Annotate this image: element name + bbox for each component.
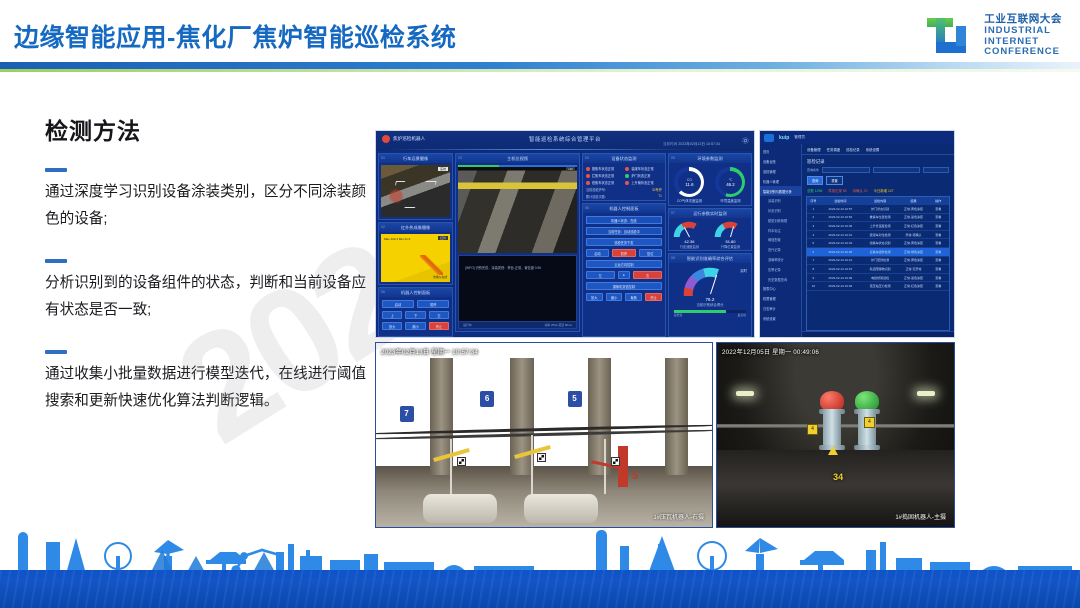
panel-title: 行车远景摄像 (403, 156, 428, 161)
cell-no: 8 (807, 267, 820, 271)
cell-no: 4 (807, 233, 820, 237)
stat-today: 今日新增 127 (873, 188, 893, 193)
concrete-drum (423, 494, 497, 523)
cell-result: 异常-待确认 (899, 233, 927, 237)
control-group-label: 云台方向控制 (586, 260, 662, 268)
console-action-bar: 查询 重置 (802, 176, 954, 188)
ring-inner: ℃ 46.2 (719, 171, 742, 194)
video-feed-main[interactable]: HD (458, 165, 577, 253)
camera-label: 1#压瓦机器人-右摄 (653, 512, 704, 521)
status-dot-icon (586, 181, 590, 185)
filter-label: 查询条件 (807, 168, 819, 172)
filter-input-3[interactable] (923, 167, 949, 173)
panel-number: 06 (381, 288, 385, 297)
panel-title: 运行参数实时监测 (693, 211, 727, 216)
panel-header: 05 环境参数监测 (669, 154, 751, 163)
reset-button[interactable]: 复位 (639, 249, 662, 257)
ring-value: 11.6 (685, 182, 693, 187)
photo-coke-oven-left: 7 6 5 5 2023年02月13日 星期一 10:57:34 1#压瓦机器人… (375, 342, 713, 528)
action-button[interactable]: 放大 (382, 322, 402, 330)
sidebar-item-history-query[interactable]: 历史数据查询 (760, 274, 801, 284)
table-row[interactable]: 102023-02-13 10:02液压站压力检测正常-红色涂装查看 (807, 282, 949, 291)
gear-icon[interactable] (742, 137, 749, 144)
panel-cam-left-top: 01 行车远景摄像 实时 (378, 153, 453, 220)
sidebar-item-model-training[interactable]: 模型训练管理 (760, 215, 801, 225)
dashboard-clock: 当前时间 2023年02月13日 10:57:34 (663, 142, 720, 147)
cell-result: 正常-红色涂装 (899, 284, 927, 288)
cell-op[interactable]: 查看 (928, 258, 949, 262)
cell-op[interactable]: 查看 (928, 215, 949, 219)
panel-runtime-gauges: 07 运行参数实时监测 42.36 行走速度监测 51.80 (668, 208, 752, 251)
panel-title: 环境参数监测 (697, 156, 722, 161)
oven-pillar (665, 358, 689, 476)
filter-input-1[interactable] (822, 167, 870, 173)
stat-pending: 待确认 23 (853, 188, 868, 193)
button-row: 启动 暂停 复位 (586, 249, 662, 257)
status-dot-icon (625, 167, 629, 171)
table-row[interactable]: 42023-02-13 10:41装煤车对位检测异常-待确认查看 (807, 231, 949, 240)
valve-body (823, 409, 841, 447)
cell-result: 正常-黄色涂装 (899, 241, 927, 245)
robot-arm-post (450, 439, 452, 494)
sidebar-item-inspection[interactable]: 巡检管理 (760, 167, 801, 177)
gauge-arc (673, 221, 705, 238)
panel-body: HD [INFO] 识别完成，涂装类别：黄色-正常，置信度 0.96 运行中 帧… (456, 163, 579, 331)
cell-no: 6 (807, 250, 820, 254)
video-tag: 红外 (438, 236, 448, 240)
oven-number-badge: 7 (400, 406, 414, 422)
status-label: 炉门状态正常 (631, 173, 650, 178)
kv-value: 71 (658, 194, 662, 199)
video-feed-overview[interactable]: 实时 (381, 165, 450, 217)
action-button[interactable]: 启动 (382, 300, 414, 308)
panel-header: 02 红外热成像摄像 (379, 223, 452, 232)
ring-caption: CO气体浓度监测 (674, 198, 704, 203)
valve-head-red-icon (820, 391, 844, 411)
log-console[interactable]: [INFO] 识别完成，涂装类别：黄色-正常，置信度 0.96 运行中 帧率 2… (458, 255, 577, 329)
sidebar-item-coating-recognition[interactable]: 涂装识别 (760, 196, 801, 206)
stop-button[interactable]: 停止 (429, 322, 449, 330)
cell-op[interactable]: 查看 (928, 207, 949, 211)
sidebar-item-home[interactable]: 首页 (760, 147, 801, 157)
cell-time: 2023-02-13 10:57 (820, 207, 861, 211)
cell-time: 2023-02-13 10:28 (820, 250, 861, 254)
bullet-item: 通过收集小批量数据进行模型迭代，在线进行阈值搜索和更新快速优化算法判断逻辑。 (45, 350, 375, 415)
status-item: 炉门状态正常 (625, 173, 662, 178)
cell-no: 1 (807, 207, 820, 211)
page-title: 边缘智能应用-焦化厂焦炉智能巡检系统 (14, 18, 456, 54)
sidebar-item-permissions[interactable]: 权限管理 (760, 294, 801, 304)
robot-control-body: 机器人状态：在线 当前任务：自动巡检中 巡检任务下发 启动 暂停 复位 云台方向… (583, 213, 665, 304)
ring-value: 46.2 (726, 182, 735, 187)
sidebar-item-state-recognition[interactable]: 状态识别 (760, 206, 801, 216)
control-group-label: 摄像机变倍控制 (586, 282, 662, 290)
cell-result: 正常-蓝色涂装 (899, 276, 927, 280)
cell-result: 正常-红色涂装 (899, 224, 927, 228)
clock-label: 当前时间 (663, 142, 677, 146)
conference-logo: 工业互联网大会 INDUSTRIAL INTERNET CONFERENCE (923, 12, 1062, 60)
app-user-label[interactable]: 管理员 (794, 135, 805, 140)
status-label: 上升管状态正常 (631, 180, 653, 185)
pause-button[interactable]: 暂停 (612, 249, 635, 257)
status-dot-icon (586, 167, 590, 171)
bullet-text: 分析识别到的设备组件的状态，判断和当前设备应有状态是否一致; (45, 270, 375, 324)
header-rule-green (0, 69, 1080, 72)
console-metrics: 帧率 25fps 延迟 86ms (545, 323, 572, 327)
zoom-in-button[interactable]: 放大 (586, 293, 603, 301)
panel-title: 机器人控制面板 (401, 290, 430, 295)
panel-body: 红外 Max 132.4 Min 21.6 热像仪在线 (379, 232, 452, 284)
reset-button[interactable]: 重置 (826, 176, 842, 185)
button-row: 左 ● 右 (586, 271, 662, 279)
panel-number: 04 (585, 154, 589, 163)
status-item: 拦焦车状态正常 (586, 173, 623, 178)
kv-key: 当前巡检炉号： (586, 187, 608, 192)
sidebar-item-accuracy-stats[interactable]: 准确率统计 (760, 255, 801, 265)
table-row[interactable]: 62023-02-13 10:28拦焦车组件检测正常-绿色涂装查看 (807, 248, 949, 257)
focus-button[interactable]: 聚焦 (625, 293, 642, 301)
sidebar-item-ai-analysis[interactable]: 智能识别与数据分析 (760, 186, 801, 196)
panel-title: 红外热成像摄像 (401, 225, 430, 230)
panel-number: 06 (585, 204, 589, 213)
calibration-marker (537, 453, 546, 462)
stop-button[interactable]: 停止 (645, 293, 662, 301)
app-logo-text: kuip (779, 135, 789, 141)
cell-op[interactable]: 查看 (928, 276, 949, 280)
button-row: 上 下 左 (382, 311, 449, 319)
panel-cam-main: 03 主机位视频 HD [INFO] 识别完成，涂装类别：黄色-正常，置信度 0… (455, 153, 580, 332)
table-row[interactable]: 92023-02-13 10:09电缆桥架巡检正常-蓝色涂装查看 (807, 274, 949, 283)
cell-no: 2 (807, 215, 820, 219)
gauge-caption: 行走速度监测 (673, 244, 705, 249)
thermal-range-label: Max 132.4 Min 21.6 (384, 237, 410, 241)
column-header-content: 巡检内容 (861, 199, 899, 203)
tab-inspection-records[interactable]: 巡检记录 (846, 147, 860, 152)
panel-header: 04 设备状态监测 (583, 154, 665, 163)
cell-op[interactable]: 查看 (928, 284, 949, 288)
logo-i-mark (923, 12, 975, 60)
photo-timestamp: 2022年12月05日 星期一 00:49:06 (722, 347, 819, 356)
cell-time: 2023-02-13 10:15 (820, 267, 861, 271)
cell-time: 2023-02-13 10:02 (820, 284, 861, 288)
cell-content: 拦焦车组件检测 (861, 250, 899, 254)
bullet-item: 通过深度学习识别设备涂装类别，区分不同涂装颜色的设备; (45, 168, 375, 233)
unit-number: 34 (833, 472, 843, 482)
cell-op[interactable]: 查看 (928, 224, 949, 228)
dashboard-header: 焦炉巡检机器人 智能巡检系统综合管理平台 当前时间 2023年02月13日 10… (376, 131, 754, 151)
valve-head-green-icon (855, 391, 879, 411)
gauge-row: 42.36 行走速度监测 51.80 升降位置监测 (669, 218, 751, 250)
gauge-needle (731, 226, 735, 237)
console-sidebar: 首页 设备台账 巡检管理 机器人管理 智能识别与数据分析 涂装识别 状态识别 模… (760, 144, 802, 338)
column-header-op: 操作 (928, 199, 949, 203)
console-body: 首页 设备台账 巡检管理 机器人管理 智能识别与数据分析 涂装识别 状态识别 模… (760, 144, 954, 338)
ring-group-temp: ℃ 46.2 环境温度监测 (715, 167, 745, 203)
panel-header: 03 主机位视频 (456, 154, 579, 163)
cell-content: 液压站压力检测 (861, 284, 899, 288)
cell-time: 2023-02-13 10:34 (820, 241, 861, 245)
zoom-out-button[interactable]: 缩小 (606, 293, 623, 301)
console-topbar: kuip 管理员 (760, 131, 954, 144)
calibration-marker (611, 457, 620, 466)
section-heading: 检测方法 (45, 112, 141, 146)
video-feed-thermal[interactable]: 红外 Max 132.4 Min 21.6 热像仪在线 (381, 234, 450, 282)
console-status: 运行中 (463, 323, 471, 327)
scada-dashboard: 焦炉巡检机器人 智能巡检系统综合管理平台 当前时间 2023年02月13日 10… (375, 130, 755, 338)
cell-no: 7 (807, 258, 820, 262)
footer-decoration (0, 530, 1080, 608)
start-button[interactable]: 启动 (586, 249, 609, 257)
tab-device-management[interactable]: 设备管理 (807, 147, 821, 152)
button-row: 启动 暂停 (382, 300, 449, 308)
tab-task-scheduling[interactable]: 任务调度 (827, 147, 841, 152)
oven-number-red: 5 (628, 468, 642, 484)
header-rule-blue (0, 62, 1080, 69)
thermal-status-label: 热像仪在线 (433, 275, 447, 279)
cell-result: 正常-蓝色涂装 (899, 215, 927, 219)
console-tabs: 设备管理 任务调度 巡检记录 系统设置 (802, 144, 954, 155)
cell-content: 轨道障碍物识别 (861, 267, 899, 271)
accuracy-live-badge: 实时 (740, 268, 747, 273)
progress-green-segment (458, 165, 498, 167)
ring-group-co: CO 11.6 CO气体浓度监测 (674, 167, 704, 203)
panel-number: 08 (671, 254, 675, 263)
robot-task-banner: 当前任务：自动巡检中 (586, 227, 662, 235)
status-item: 推焦车状态正常 (586, 166, 623, 171)
kv-key: 累计巡检次数： (586, 194, 608, 199)
panel-header: 01 行车远景摄像 (379, 154, 452, 163)
column-header-no: 序号 (807, 199, 820, 203)
sidebar-item-audit-log[interactable]: 日志审计 (760, 304, 801, 314)
sidebar-item-alarm-records[interactable]: 告警记录 (760, 264, 801, 274)
work-lamp (736, 391, 754, 396)
status-label: 拦焦车状态正常 (592, 173, 614, 178)
sidebar-item-iteration-log[interactable]: 迭代记录 (760, 245, 801, 255)
accuracy-bar-fill (674, 310, 726, 313)
ring-inner: CO 11.6 (678, 171, 701, 194)
robot-arm-post (531, 435, 533, 494)
pan-center-icon[interactable]: ● (618, 271, 631, 279)
action-button[interactable]: 缩小 (405, 322, 425, 330)
warning-triangle-icon (828, 446, 838, 455)
button-row: 放大 缩小 停止 (382, 322, 449, 330)
stat-total: 总数 1296 (807, 188, 822, 193)
concrete-drum (524, 494, 598, 523)
table-row[interactable]: 22023-02-13 10:52推焦车位置检测正常-蓝色涂装查看 (807, 214, 949, 223)
cell-content: 炉门密封检测 (861, 258, 899, 262)
bullet-dash-icon (45, 259, 67, 263)
button-row: 放大 缩小 聚焦 停止 (586, 293, 662, 301)
cell-time: 2023-02-13 10:46 (820, 224, 861, 228)
bar-min-label: 最低值 (674, 313, 682, 317)
panel-number: 03 (458, 154, 462, 163)
accuracy-caption: 当前识别综合得分 (671, 302, 749, 307)
accuracy-bar-labels: 最低值 最高值 (671, 313, 749, 317)
video-tag: 实时 (438, 167, 448, 171)
status-dot-icon (586, 174, 590, 178)
valve-tag-left: 4 (807, 424, 818, 435)
accuracy-gauge: 实时 76.2 当前识别综合得分 最低值 最高值 (669, 263, 751, 318)
cell-result: 正常-无异常 (899, 267, 927, 271)
skyline-silhouette-icon (0, 526, 1080, 574)
oven-number-badge: 6 (480, 391, 494, 407)
panel-environment: 05 环境参数监测 CO 11.6 (668, 153, 752, 206)
panel-device-status: 04 设备状态监测 推焦车状态正常 装煤车状态正常 拦焦车状态正常 炉门状态正常… (582, 153, 666, 201)
tab-system-settings[interactable]: 系统设置 (866, 147, 880, 152)
table-row[interactable]: 12023-02-13 10:57炉门状态识别正常-黄色涂装查看 (807, 205, 949, 214)
panel-title: 设备状态监测 (611, 156, 636, 161)
column-header-time: 巡检时间 (820, 199, 861, 203)
panel-number: 05 (671, 154, 675, 163)
console-main: 设备管理 任务调度 巡检记录 系统设置 巡检记录 查询条件 查询 重置 (802, 144, 954, 338)
cell-no: 3 (807, 224, 820, 228)
app-logo-icon (764, 134, 774, 142)
gauge-speed: 42.36 行走速度监测 (673, 221, 705, 249)
status-dot-icon (625, 181, 629, 185)
calibration-marker (457, 457, 466, 466)
status-label: 推焦车状态正常 (592, 166, 614, 171)
console-footer: 运行中 帧率 25fps 延迟 86ms (459, 321, 576, 328)
ring-gauge-temperature: ℃ 46.2 (715, 167, 745, 197)
log-line: [INFO] 识别完成，涂装类别：黄色-正常，置信度 0.96 (465, 265, 541, 270)
bar-max-label: 最高值 (738, 313, 746, 317)
console-stats: 总数 1296 异常记录 58 待确认 23 今日新增 127 (802, 188, 954, 196)
photo-timestamp: 2023年02月13日 星期一 10:57:34 (381, 347, 478, 356)
records-table: 序号 巡检时间 巡检内容 结果 操作 12023-02-13 10:57炉门状态… (806, 196, 950, 331)
panel-header: 06 机器人控制面板 (379, 288, 452, 297)
cell-time: 2023-02-13 10:52 (820, 215, 861, 219)
clock-value: 2023年02月13日 10:57:34 (678, 142, 720, 146)
bullet-dash-icon (45, 350, 67, 354)
ring-caption: 环境温度监测 (715, 198, 745, 203)
panel-header: 07 运行参数实时监测 (669, 209, 751, 218)
gauge-lift: 51.80 升降位置监测 (714, 221, 746, 249)
sidebar-item-sample-labeling[interactable]: 样本标注 (760, 225, 801, 235)
gauge-needle (684, 227, 690, 237)
filter-input-2[interactable] (873, 167, 921, 173)
bullet-text: 通过深度学习识别设备涂装类别，区分不同涂装颜色的设备; (45, 179, 375, 233)
panel-number: 02 (381, 223, 385, 232)
action-button[interactable]: 左 (429, 311, 449, 319)
panel-title: 智能识别准确率综合评估 (687, 256, 733, 261)
valve-body (858, 409, 876, 447)
panel-header: 08 智能识别准确率综合评估 (669, 254, 751, 263)
cell-no: 9 (807, 276, 820, 280)
table-row[interactable]: 52023-02-13 10:34熄焦车状态识别正常-黄色涂装查看 (807, 239, 949, 248)
action-button[interactable]: 暂停 (417, 300, 449, 308)
cell-content: 电缆桥架巡检 (861, 276, 899, 280)
table-row[interactable]: 32023-02-13 10:46上升管温度检测正常-红色涂装查看 (807, 222, 949, 231)
sidebar-item-threshold-config[interactable]: 阈值配置 (760, 235, 801, 245)
panel-title: 机器人控制面板 (609, 206, 638, 211)
environment-rings: CO 11.6 CO气体浓度监测 ℃ 46. (669, 163, 751, 205)
gauge-arc (714, 221, 746, 238)
stat-abnormal: 异常记录 58 (828, 188, 846, 193)
sidebar-item-robot[interactable]: 机器人管理 (760, 176, 801, 186)
panel-header: 06 机器人控制面板 (583, 204, 665, 213)
cell-op[interactable]: 查看 (928, 241, 949, 245)
oven-number-badge: 5 (568, 391, 582, 407)
cell-no: 10 (807, 284, 820, 288)
dashboard-title-rule (386, 147, 694, 151)
pan-right-button[interactable]: 右 (633, 271, 662, 279)
dashboard-column-main: 03 主机位视频 HD [INFO] 识别完成，涂装类别：黄色-正常，置信度 0… (455, 153, 580, 337)
bullet-text: 通过收集小批量数据进行模型迭代，在线进行阈值搜索和更新快速优化算法判断逻辑。 (45, 361, 375, 415)
photo-coke-oven-right: 4 4 34 2022年12月05日 星期一 00:49:06 1#捣固机器人-… (716, 342, 955, 528)
console-page-title: 巡检记录 (802, 155, 954, 167)
status-kv-row: 当前巡检炉号： 32号炉 (583, 186, 665, 193)
oven-pillar (588, 358, 612, 476)
cell-content: 上升管温度检测 (861, 224, 899, 228)
quick-action-grid: 启动 暂停 上 下 左 放大 缩小 停止 (379, 297, 452, 333)
valve-flange (854, 445, 880, 450)
panel-quick-actions: 06 机器人控制面板 启动 暂停 上 下 左 (378, 287, 453, 337)
panel-cam-thermal: 02 红外热成像摄像 红外 Max 132.4 Min 21.6 热像仪在线 (378, 222, 453, 285)
table-row[interactable]: 72023-02-13 10:21炉门密封检测正常-黄色涂装查看 (807, 257, 949, 266)
cell-op[interactable]: 查看 (928, 267, 949, 271)
status-item: 上升管状态正常 (625, 180, 662, 185)
logo-line-industrial: INDUSTRIAL (984, 26, 1062, 37)
table-header-row: 序号 巡检时间 巡检内容 结果 操作 (807, 197, 949, 205)
camera-label: 1#捣固机器人-主摄 (895, 512, 946, 521)
cell-op[interactable]: 查看 (928, 250, 949, 254)
bullet-item: 分析识别到的设备组件的状态，判断和当前设备应有状态是否一致; (45, 259, 375, 324)
dashboard-column-gauges: 05 环境参数监测 CO 11.6 (668, 153, 752, 337)
progress-blue-segment (499, 165, 577, 167)
cell-op[interactable]: 查看 (928, 233, 949, 237)
kv-value: 32号炉 (652, 187, 662, 192)
panel-accuracy: 08 智能识别准确率综合评估 实时 76.2 当前识别综合得分 最低值 最高值 (668, 253, 752, 337)
sidebar-item-reports[interactable]: 报表中心 (760, 284, 801, 294)
gauge-caption: 升降位置监测 (714, 244, 746, 249)
panel-robot-control: 06 机器人控制面板 机器人状态：在线 当前任务：自动巡检中 巡检任务下发 启动… (582, 203, 666, 337)
video-tag: HD (566, 167, 574, 171)
status-kv-row: 累计巡检次数： 71 (583, 193, 665, 200)
cell-time: 2023-02-13 10:21 (820, 258, 861, 262)
cell-content: 装煤车对位检测 (861, 233, 899, 237)
table-row[interactable]: 82023-02-13 10:15轨道障碍物识别正常-无异常查看 (807, 265, 949, 274)
panel-number: 07 (671, 209, 675, 218)
gauge-needle (710, 275, 717, 294)
bullet-list: 通过深度学习识别设备涂装类别，区分不同涂装颜色的设备; 分析识别到的设备组件的状… (45, 168, 375, 441)
cell-result: 正常-绿色涂装 (899, 250, 927, 254)
dashboard-column-left: 01 行车远景摄像 实时 02 红外热成像摄像 (378, 153, 453, 337)
cell-result: 正常-黄色涂装 (899, 258, 927, 262)
cell-time: 2023-02-13 10:09 (820, 276, 861, 280)
column-header-result: 结果 (899, 199, 927, 203)
console-footer: 共 1296 条记录，每页 10 条 (802, 331, 954, 338)
action-button[interactable]: 上 (382, 311, 402, 319)
panel-title: 主机位视频 (507, 156, 528, 161)
status-item: 装煤车状态正常 (625, 166, 662, 171)
cell-no: 5 (807, 241, 820, 245)
status-label: 装煤车状态正常 (631, 166, 653, 171)
status-legend: 推焦车状态正常 装煤车状态正常 拦焦车状态正常 炉门状态正常 熄焦车状态正常 上… (583, 163, 665, 186)
gauge-dial (682, 266, 738, 296)
action-button[interactable]: 下 (405, 311, 425, 319)
pan-left-button[interactable]: 左 (586, 271, 615, 279)
dashboard-body: 01 行车远景摄像 实时 02 红外热成像摄像 (376, 151, 754, 338)
sidebar-item-device-ledger[interactable]: 设备台账 (760, 157, 801, 167)
dashboard-column-status: 04 设备状态监测 推焦车状态正常 装煤车状态正常 拦焦车状态正常 炉门状态正常… (582, 153, 666, 337)
slide-root: 边缘智能应用-焦化厂焦炉智能巡检系统 工业互联网大会 INDUSTRIAL IN… (0, 0, 1080, 608)
status-item: 熄焦车状态正常 (586, 180, 623, 185)
panel-number: 01 (381, 154, 385, 163)
cell-result: 正常-黄色涂装 (899, 207, 927, 211)
sidebar-item-settings[interactable]: 系统设置 (760, 313, 801, 323)
search-button[interactable]: 查询 (807, 176, 823, 185)
robot-state-banner: 机器人状态：在线 (586, 216, 662, 224)
